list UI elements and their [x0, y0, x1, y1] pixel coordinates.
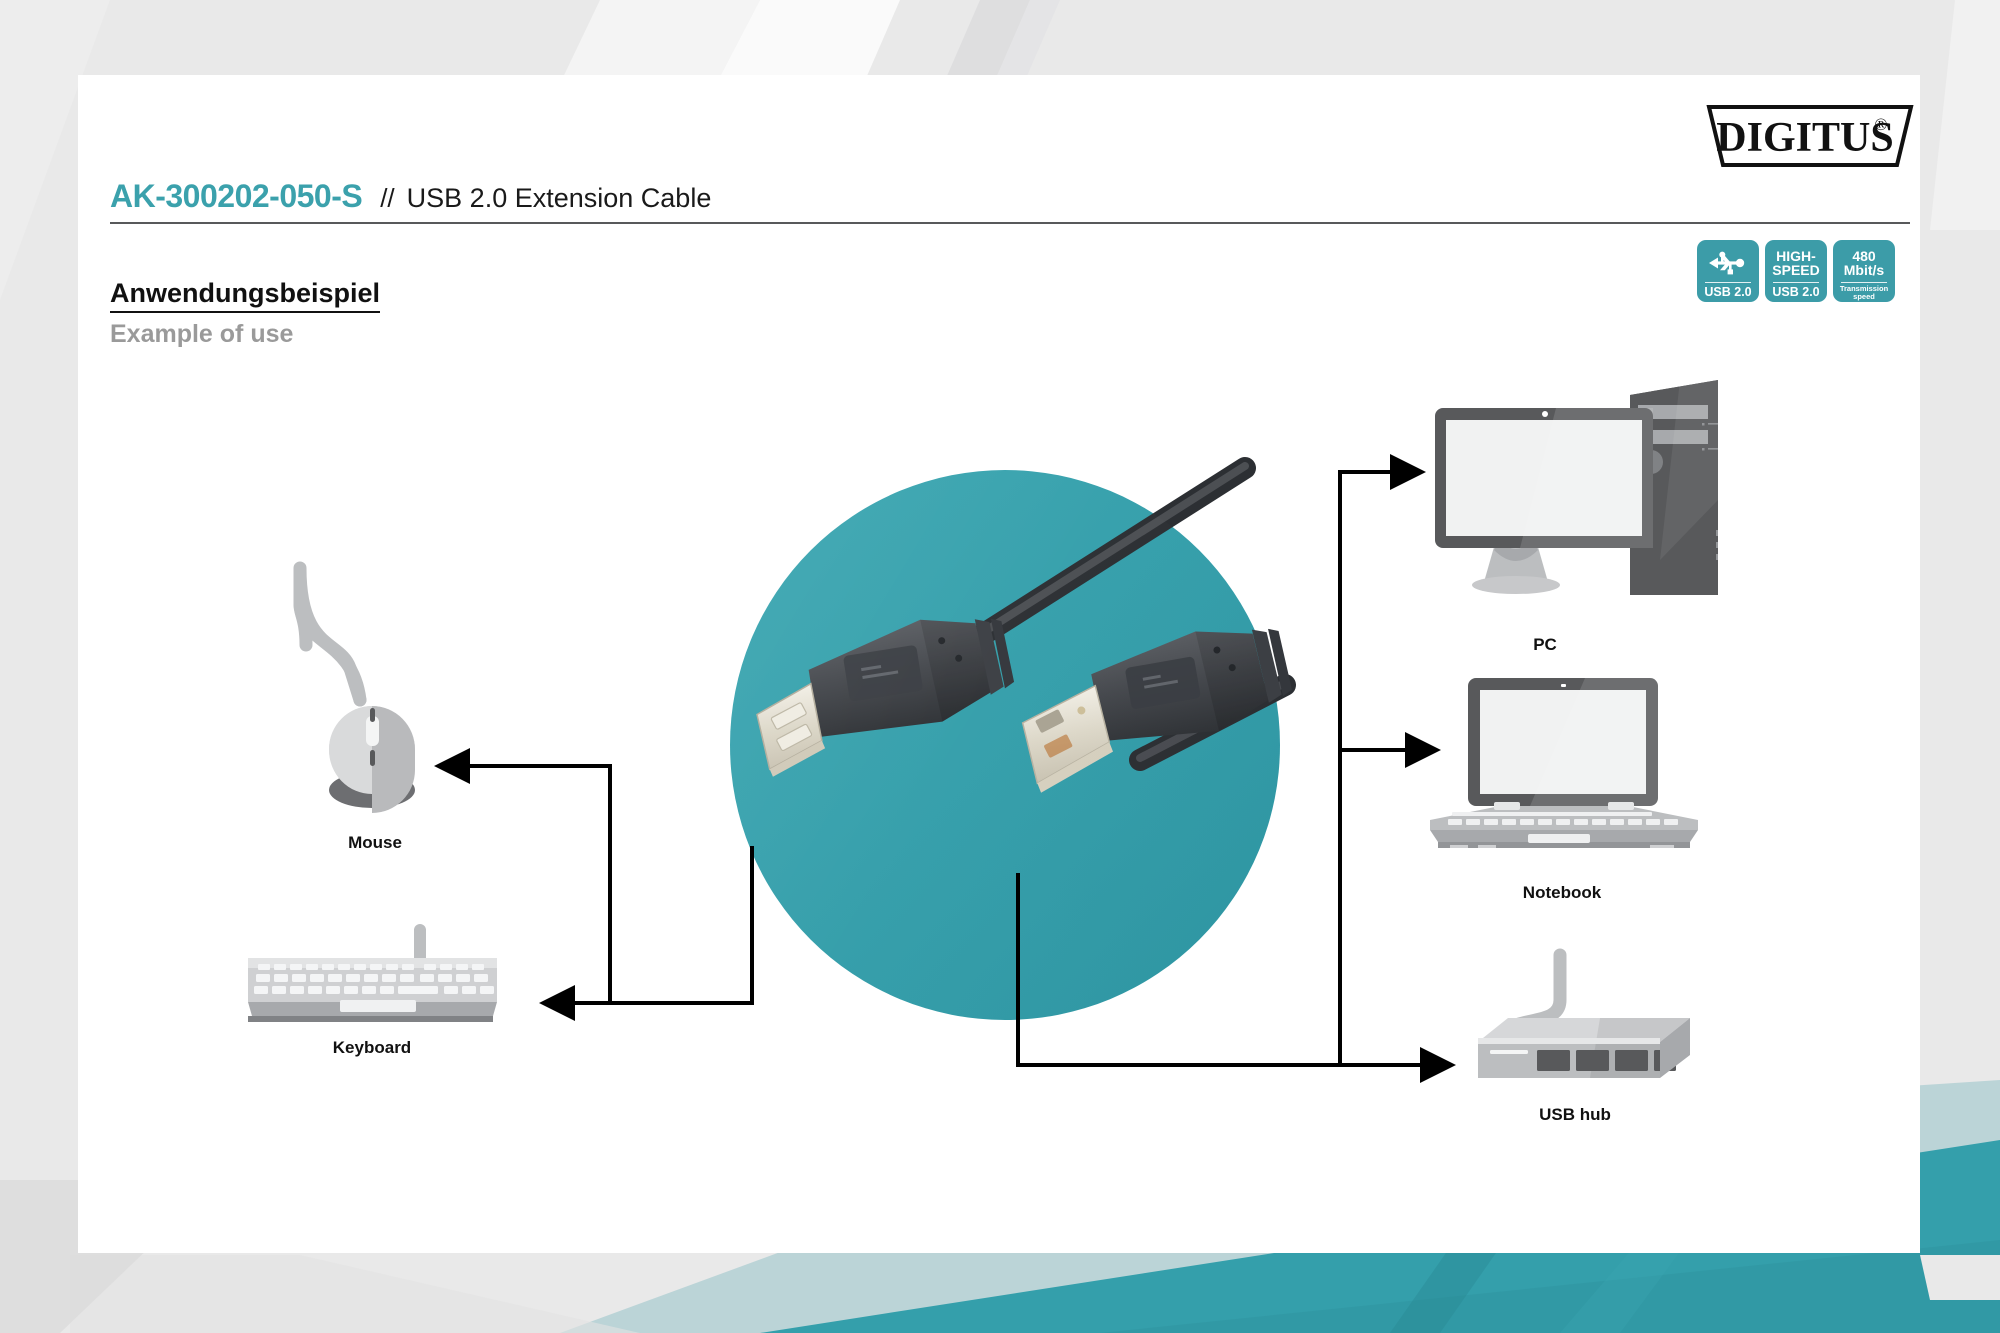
- usb-hub-label: USB hub: [1539, 1105, 1611, 1124]
- usb-hub-illustration: [1478, 955, 1690, 1078]
- mouse-illustration: [300, 568, 415, 813]
- poster-canvas: DIGITUS ® AK-300202-050-S // USB 2.0 Ext…: [0, 0, 2000, 1333]
- application-diagram: Mouse: [0, 0, 2000, 1333]
- keyboard-illustration: [248, 930, 497, 1022]
- notebook-illustration: [1430, 678, 1698, 848]
- keyboard-label: Keyboard: [333, 1038, 411, 1057]
- pc-label: PC: [1533, 635, 1557, 654]
- pc-illustration: [1435, 380, 1718, 595]
- mouse-label: Mouse: [348, 833, 402, 852]
- notebook-label: Notebook: [1523, 883, 1602, 902]
